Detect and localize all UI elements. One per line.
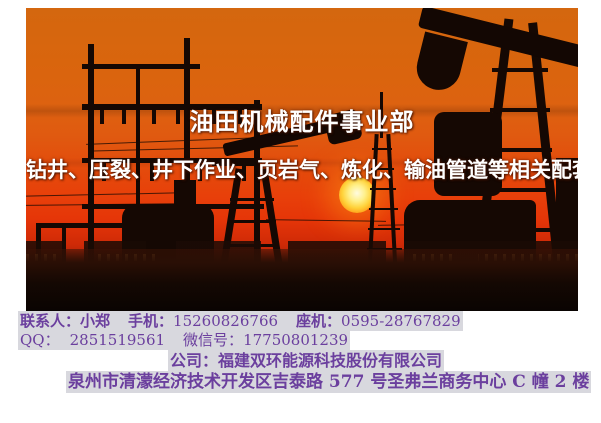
radio-tower-rung bbox=[368, 228, 400, 230]
address-value: 泉州市清濛经济技术开发区吉泰路 577 号圣弗兰商务中心 C 幢 2 楼 bbox=[66, 371, 591, 393]
company-group: 公司：福建双环能源科技股份有限公司 bbox=[168, 350, 444, 371]
contact-phone-group: 联系人：小郑手机：15260826766座机：0595-28767829 bbox=[18, 311, 463, 331]
company-label: 公司： bbox=[170, 351, 218, 370]
landline-value[interactable]: 0595-28767829 bbox=[341, 312, 461, 330]
mobile-value[interactable]: 15260826766 bbox=[173, 312, 278, 330]
advertisement-banner-page: 油田机械配件事业部 钻井、压裂、井下作业、页岩气、炼化、输油管道等相关配套设施 … bbox=[0, 0, 601, 423]
contact-im-group: QQ：2851519561微信号：17750801239 bbox=[18, 330, 350, 350]
oilfield-sunset-photo: 油田机械配件事业部 钻井、压裂、井下作业、页岩气、炼化、输油管道等相关配套设施 bbox=[26, 8, 578, 311]
contact-person-label: 联系人： bbox=[20, 312, 80, 330]
radio-tower-rung bbox=[369, 208, 398, 210]
company-name: 福建双环能源科技股份有限公司 bbox=[218, 351, 442, 370]
dark-foreground-ground bbox=[26, 249, 578, 311]
banner-subtitle: 钻井、压裂、井下作业、页岩气、炼化、输油管道等相关配套设施 bbox=[26, 154, 578, 184]
wechat-value[interactable]: 17750801239 bbox=[243, 331, 348, 349]
contact-line-address: 泉州市清濛经济技术开发区吉泰路 577 号圣弗兰商务中心 C 幢 2 楼 bbox=[0, 374, 601, 391]
contact-line-im: QQ：2851519561微信号：17750801239 bbox=[18, 333, 601, 348]
pumpjack-ladder-rung bbox=[230, 198, 274, 201]
pumpjack-ladder-rung bbox=[492, 68, 548, 72]
contact-line-phone: 联系人：小郑手机：15260826766座机：0595-28767829 bbox=[18, 314, 601, 329]
pumpjack-ladder-rung bbox=[228, 220, 276, 223]
wechat-label: 微信号： bbox=[183, 331, 243, 349]
equipment-silhouette bbox=[174, 180, 196, 220]
mobile-label: 手机： bbox=[128, 312, 173, 330]
contact-line-company: 公司：福建双环能源科技股份有限公司 bbox=[0, 353, 601, 369]
banner-title: 油田机械配件事业部 bbox=[26, 102, 578, 137]
landline-label: 座机： bbox=[296, 312, 341, 330]
radio-tower-rung bbox=[372, 148, 392, 150]
contact-person-name: 小郑 bbox=[80, 312, 110, 330]
qq-label: QQ： bbox=[20, 331, 60, 349]
radio-tower-rung bbox=[370, 188, 396, 190]
contact-info-block: 联系人：小郑手机：15260826766座机：0595-28767829 QQ：… bbox=[0, 312, 601, 391]
pylon-crossbeam bbox=[82, 64, 200, 69]
qq-value[interactable]: 2851519561 bbox=[70, 331, 165, 349]
